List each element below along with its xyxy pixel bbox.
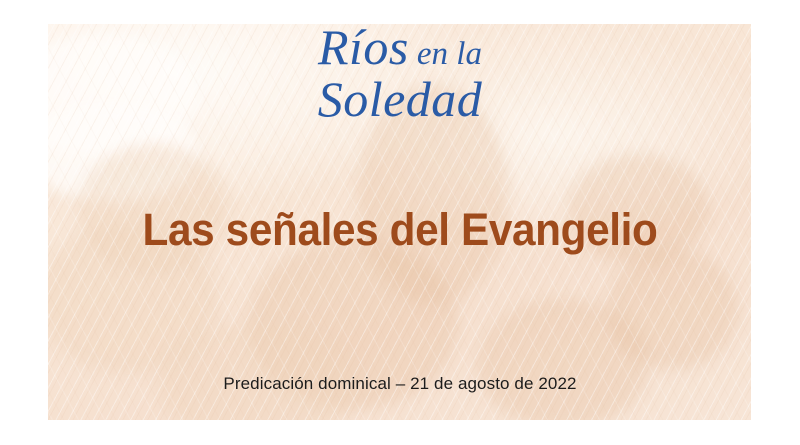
- presentation-slide: Ríosen la Soledad Las señales del Evange…: [0, 0, 800, 445]
- brand-logo-word-enla: en la: [417, 36, 482, 72]
- brand-logo-word-rios: Ríos: [318, 19, 409, 75]
- slide-subtitle: Predicación dominical – 21 de agosto de …: [0, 374, 800, 394]
- brand-logo: Ríosen la Soledad: [0, 22, 800, 124]
- slide-content: Ríosen la Soledad Las señales del Evange…: [0, 0, 800, 445]
- brand-logo-word-soledad: Soledad: [0, 74, 800, 124]
- brand-logo-line-1: Ríosen la: [0, 22, 800, 72]
- slide-title: Las señales del Evangelio: [24, 206, 776, 253]
